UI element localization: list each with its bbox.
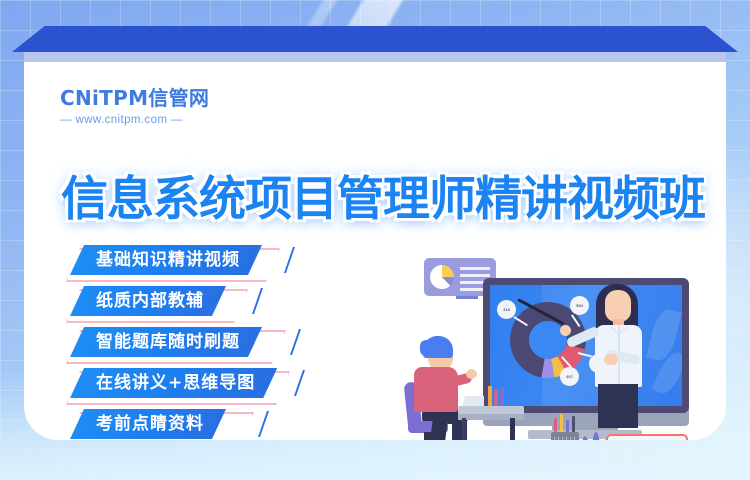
feature-tag-2: 智能题库随时刷题 [70,327,262,357]
brand-logo-url: — www.cnitpm.com — [60,114,209,126]
feature-tag-list: 基础知识精讲视频 纸质内部教辅 智能题库随时 [70,245,277,440]
card-top-bevel [12,26,738,52]
tag-accent-3 [294,370,305,396]
brand-logo: CNiTPM信管网 — www.cnitpm.com — [60,82,209,126]
brand-logo-text: CNiTPM信管网 [60,82,209,111]
teacher-head [605,290,631,322]
tag-body-2: 智能题库随时刷题 [70,327,262,357]
feature-tag-label: 考前点睛资料 [96,414,204,434]
book-stack-item [606,434,688,440]
tag-accent-2 [290,329,301,355]
student-hand [466,369,477,379]
desk-leg [462,418,466,440]
tag-accent-4 [258,411,269,437]
desk-pen [488,386,492,408]
poster-banner: CNiTPM信管网 — www.cnitpm.com — 信息系统项目管理师精讲… [0,0,750,480]
donut-label-bubble: 554 [570,296,589,315]
pie-chart-icon [430,265,454,289]
feature-tag-1: 纸质内部教辅 [70,286,226,316]
feature-tag-label: 在线讲义+思维导图 [96,373,255,393]
student-shirt [414,367,458,412]
list-item: 基础知识精讲视频 [70,245,277,286]
page-title: 信息系统项目管理师精讲视频班 [38,160,726,229]
tag-accent-1 [252,288,263,314]
feature-tag-label: 纸质内部教辅 [96,291,204,311]
teacher-hand-left [560,325,571,336]
feature-tag-label: 智能题库随时刷题 [96,332,240,352]
feature-tag-0: 基础知识精讲视频 [70,245,262,275]
pencil-cup-pattern [554,437,576,440]
feature-tag-4: 考前点睛资料 [70,409,226,439]
tag-accent-0 [284,247,295,273]
student-hair [423,336,453,358]
teacher-hand-right [604,354,618,365]
tag-body-4: 考前点睛资料 [70,409,226,439]
desk-leg [510,418,515,440]
teacher-skirt [598,384,638,428]
list-item: 在线讲义+思维导图 [70,368,277,409]
donut-label-bubble: 407 [560,367,579,386]
feature-tag-3: 在线讲义+思维导图 [70,368,277,398]
list-item: 智能题库随时刷题 [70,327,277,368]
chair-post [424,432,431,440]
donut-label-bubble: 318 [497,300,516,319]
list-item: 纸质内部教辅 [70,286,277,327]
tag-body-3: 在线讲义+思维导图 [70,368,277,398]
desk-pen [500,388,504,408]
cup-pen [560,414,563,434]
list-item: 考前点睛资料 [70,409,277,440]
content-card: CNiTPM信管网 — www.cnitpm.com — 信息系统项目管理师精讲… [24,62,726,440]
tag-body-0: 基础知识精讲视频 [70,245,262,275]
tag-body-1: 纸质内部教辅 [70,286,226,316]
feature-tag-label: 基础知识精讲视频 [96,250,240,270]
online-class-illustration: 318 554 48 407 [400,240,726,440]
